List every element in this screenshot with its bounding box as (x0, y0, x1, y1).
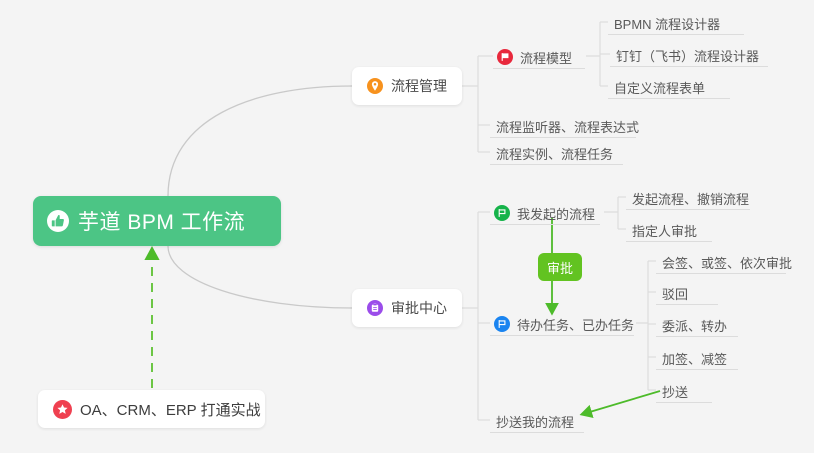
leaf-label: 委派、转办 (662, 320, 727, 333)
leaf-label: 我发起的流程 (517, 208, 595, 221)
link-liuchengmoxing-bus (586, 22, 600, 86)
leaf-weipai-zhuanban[interactable]: 委派、转办 (656, 311, 738, 337)
mindmap-canvas: 芋道 BPM 工作流 流程管理 审批中心 (0, 0, 814, 453)
leaf-label: 流程模型 (520, 52, 572, 65)
badge-shenpi[interactable]: 审批 (538, 253, 582, 281)
leaf-label: 发起流程、撤销流程 (632, 193, 749, 206)
clipboard-icon (367, 300, 383, 316)
branch-node-liuchengguanli[interactable]: 流程管理 (352, 67, 462, 105)
leaf-faqi-chexiao[interactable]: 发起流程、撤销流程 (626, 184, 750, 210)
leaf-listener-expression[interactable]: 流程监听器、流程表达式 (490, 112, 636, 138)
leaf-label: 钉钉（飞书）流程设计器 (616, 50, 759, 63)
link-daibanrenwu-bus (636, 261, 648, 390)
branch-label-shenpizhongxin: 审批中心 (391, 298, 447, 318)
leaf-huiqian-huoqian[interactable]: 会签、或签、依次审批 (656, 248, 786, 274)
leaf-label: 驳回 (662, 288, 688, 301)
leaf-label: 流程实例、流程任务 (496, 148, 613, 161)
leaf-dingding-designer[interactable]: 钉钉（飞书）流程设计器 (610, 41, 768, 67)
link-shenpizhongxin-bus (462, 212, 478, 420)
star-icon (53, 400, 72, 419)
link-root-to-liuchengguanli (168, 86, 352, 196)
leaf-label: BPMN 流程设计器 (614, 18, 720, 31)
leaf-label: 流程监听器、流程表达式 (496, 121, 639, 134)
link-wofaqide-bus (604, 197, 618, 229)
leaf-label: 抄送 (662, 386, 688, 399)
thumbs-up-icon (47, 210, 69, 232)
leaf-chaosong[interactable]: 抄送 (656, 377, 712, 403)
leaf-label: 加签、减签 (662, 353, 727, 366)
leaf-label: 待办任务、已办任务 (517, 319, 634, 332)
leaf-liuchengmoxing[interactable]: 流程模型 (493, 43, 585, 69)
link-root-to-shenpizhongxin (168, 246, 352, 308)
link-green-chaosong (583, 391, 660, 414)
link-liuchengguanli-bus (462, 56, 478, 152)
flag-icon (494, 205, 510, 221)
flag-icon (494, 316, 510, 332)
note-node-oa[interactable]: OA、CRM、ERP 打通实战 (38, 390, 265, 428)
location-pin-icon (367, 78, 383, 94)
leaf-bpmn-designer[interactable]: BPMN 流程设计器 (608, 9, 744, 35)
root-node[interactable]: 芋道 BPM 工作流 (33, 196, 281, 246)
leaf-daibanrenwu[interactable]: 待办任务、已办任务 (490, 310, 634, 336)
flag-icon (497, 49, 513, 65)
leaf-label: 抄送我的流程 (496, 416, 574, 429)
leaf-chaosongwode[interactable]: 抄送我的流程 (490, 407, 584, 433)
leaf-custom-form[interactable]: 自定义流程表单 (608, 73, 730, 99)
leaf-jiaqian-jianqian[interactable]: 加签、减签 (656, 344, 738, 370)
note-label: OA、CRM、ERP 打通实战 (80, 399, 261, 420)
leaf-wofaqide[interactable]: 我发起的流程 (490, 199, 600, 225)
leaf-label: 自定义流程表单 (614, 82, 705, 95)
root-label: 芋道 BPM 工作流 (78, 206, 245, 236)
branch-node-shenpizhongxin[interactable]: 审批中心 (352, 289, 462, 327)
leaf-instance-task[interactable]: 流程实例、流程任务 (490, 139, 623, 165)
badge-label: 审批 (547, 258, 573, 277)
leaf-label: 会签、或签、依次审批 (662, 257, 792, 270)
leaf-bohui[interactable]: 驳回 (656, 279, 718, 305)
leaf-label: 指定人审批 (632, 225, 697, 238)
leaf-zhidingren-shenpi[interactable]: 指定人审批 (626, 216, 712, 242)
branch-label-liuchengguanli: 流程管理 (391, 76, 447, 96)
